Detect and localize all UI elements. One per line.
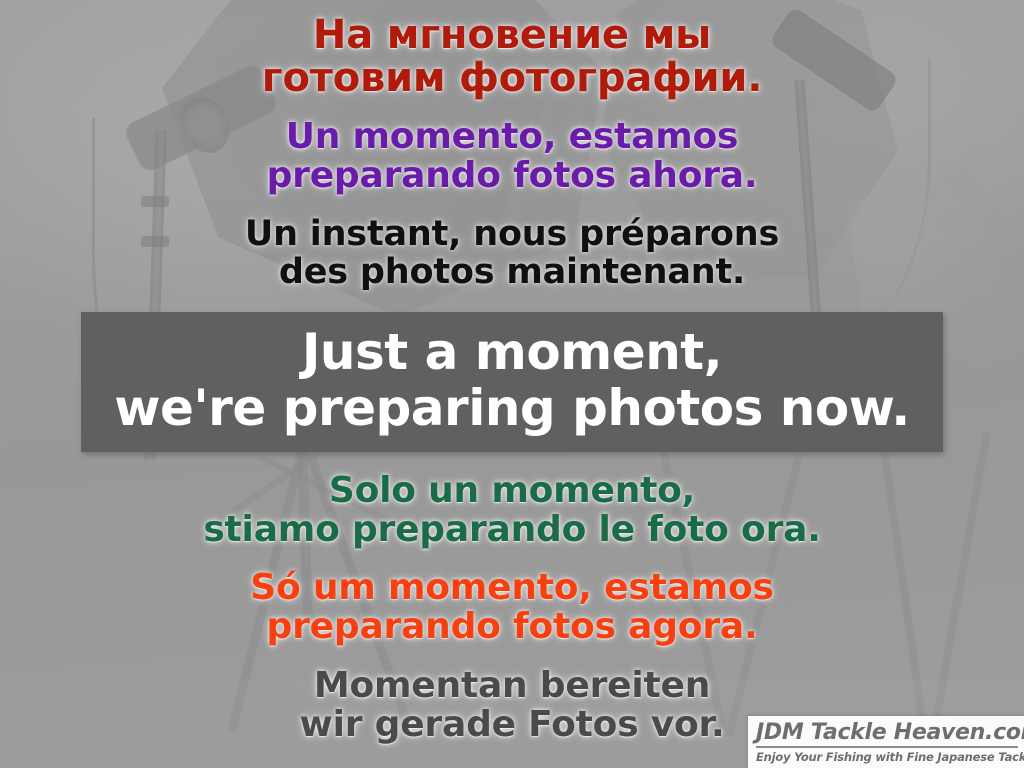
loading-messages: На мгновение мы готовим фотографии. Un m… (0, 0, 1024, 768)
watermark-tagline: Enjoy Your Fishing with Fine Japanese Ta… (756, 750, 1018, 764)
loading-message-french-line1: Un instant, nous préparons (0, 216, 1024, 254)
loading-message-german-line1: Momentan bereiten (0, 667, 1024, 706)
loading-message-portuguese: Só um momento, estamos preparando fotos … (0, 569, 1024, 647)
loading-message-italian: Solo un momento, stiamo preparando le fo… (0, 472, 1024, 550)
loading-message-spanish-line2: preparando fotos ahora. (0, 157, 1024, 196)
loading-message-english-banner: Just a moment, we're preparing photos no… (81, 312, 943, 452)
loading-message-italian-line1: Solo un momento, (0, 472, 1024, 511)
loading-message-russian-line1: На мгновение мы (0, 14, 1024, 57)
loading-message-french: Un instant, nous préparons des photos ma… (0, 216, 1024, 292)
loading-message-french-line2: des photos maintenant. (0, 254, 1024, 292)
watermark-logo: JDM Tackle Heaven.com Enjoy Your Fishing… (748, 716, 1024, 768)
loading-message-spanish: Un momento, estamos preparando fotos aho… (0, 118, 1024, 196)
loading-message-portuguese-line1: Só um momento, estamos (0, 569, 1024, 608)
loading-message-english: Just a moment, we're preparing photos no… (81, 324, 943, 436)
placeholder-image: На мгновение мы готовим фотографии. Un m… (0, 0, 1024, 768)
loading-message-english-line1: Just a moment, (81, 324, 943, 380)
loading-message-portuguese-line2: preparando fotos agora. (0, 608, 1024, 647)
loading-message-spanish-line1: Un momento, estamos (0, 118, 1024, 157)
loading-message-russian-line2: готовим фотографии. (0, 57, 1024, 100)
loading-message-english-line2: we're preparing photos now. (81, 380, 943, 436)
loading-message-russian: На мгновение мы готовим фотографии. (0, 14, 1024, 100)
loading-message-italian-line2: stiamo preparando le foto ora. (0, 511, 1024, 550)
watermark-title: JDM Tackle Heaven.com (756, 721, 1018, 744)
watermark-divider (756, 746, 1018, 748)
